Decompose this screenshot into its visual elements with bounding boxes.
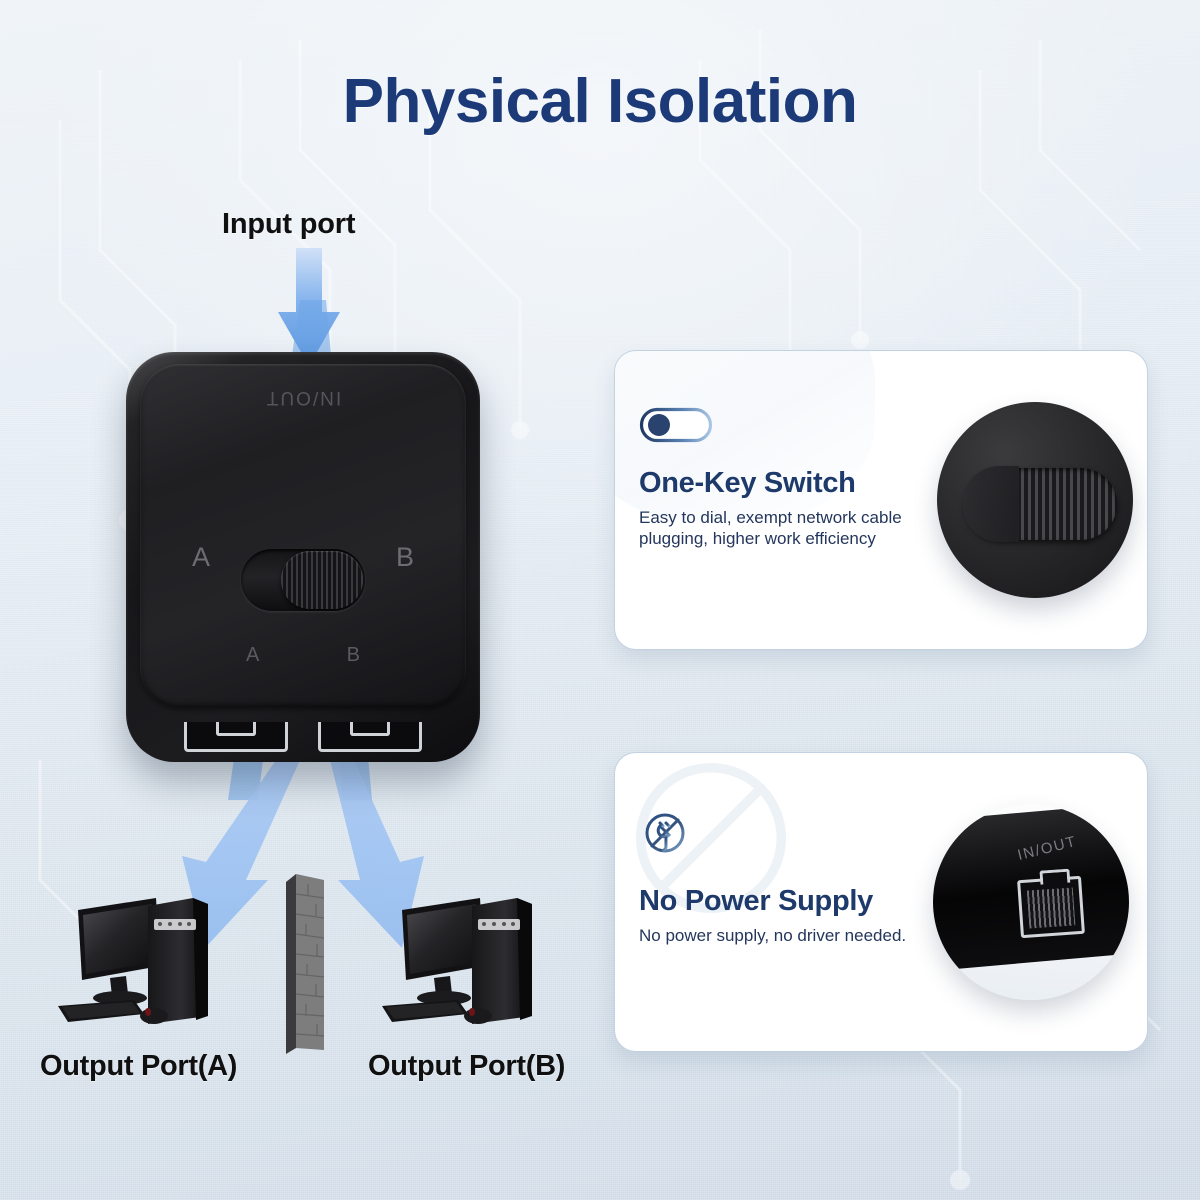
- brick-wall-divider: [286, 872, 324, 1054]
- computer-b: [372, 888, 587, 1038]
- network-switch-device: IN/OUT A B A B: [126, 352, 480, 762]
- computer-a: [48, 888, 263, 1038]
- rj45-jack: [1017, 876, 1085, 938]
- feature-description: No power supply, no driver needed.: [639, 925, 949, 946]
- toggle-switch-icon: [639, 407, 713, 443]
- device-label-a: A: [192, 542, 210, 573]
- rotary-dial-closeup-photo: [937, 402, 1133, 598]
- device-port-label-b: B: [347, 644, 360, 667]
- no-power-icon: [639, 809, 691, 861]
- device-port-label-a: A: [246, 644, 259, 667]
- device-slider-dial[interactable]: [241, 549, 365, 611]
- feature-card-one-key-switch: One-Key Switch Easy to dial, exempt netw…: [614, 350, 1148, 650]
- device-inout-marking: IN/OUT: [140, 386, 466, 408]
- rj45-port-a: [184, 722, 288, 752]
- feature-description: Easy to dial, exempt network cable plugg…: [639, 507, 949, 550]
- dial-knob[interactable]: [281, 551, 363, 609]
- rj45-port-closeup-photo: IN/OUT: [933, 804, 1129, 1000]
- output-port-a-label: Output Port(A): [40, 1050, 237, 1083]
- feature-card-no-power-supply: No Power Supply No power supply, no driv…: [614, 752, 1148, 1052]
- device-top-face: IN/OUT A B A B: [140, 364, 466, 708]
- device-rj45-ports: [184, 722, 422, 756]
- rj45-port-b: [318, 722, 422, 752]
- poster-canvas: Physical Isolation: [0, 0, 1200, 1200]
- isolation-diagram: Input port IN/OUT A B A B: [0, 0, 600, 1200]
- device-label-b: B: [396, 542, 414, 573]
- output-port-b-label: Output Port(B): [368, 1050, 565, 1083]
- dial-knob-ribbed: [965, 468, 1117, 540]
- input-port-label: Input port: [222, 208, 355, 241]
